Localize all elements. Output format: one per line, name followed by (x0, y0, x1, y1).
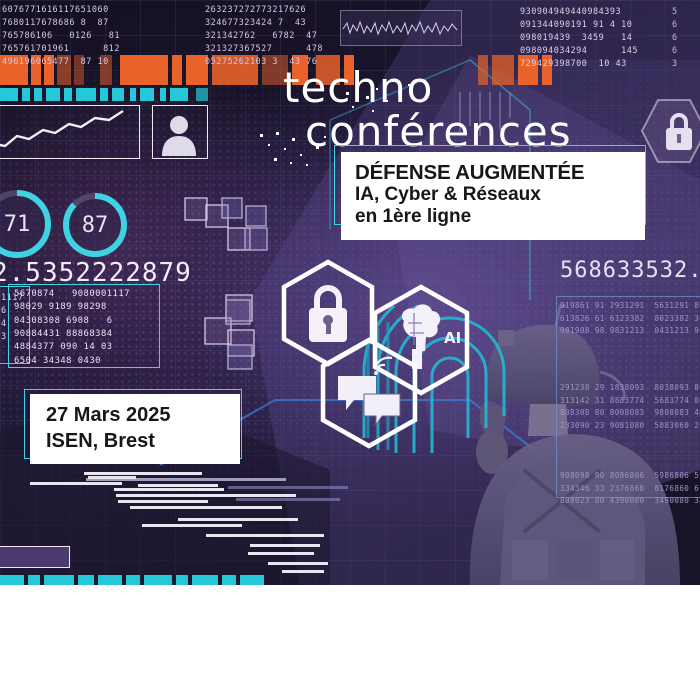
digit-block-mid-box: 5670874 9080001117 98029 9189 98298 0430… (14, 288, 130, 368)
event-card: 27 Mars 2025 ISEN, Brest (30, 394, 240, 464)
digit-block-right-1: 919861 91 2931291 5631291 863 46 613826 … (560, 300, 700, 338)
data-line-right-2 (236, 498, 340, 501)
data-line-3 (30, 482, 122, 485)
cyan-bar-bottom-h (176, 575, 188, 585)
data-line-right-1 (228, 486, 348, 489)
cyan-bar-bottom-j (222, 575, 236, 585)
cyan-bar-bottom-f (126, 575, 140, 585)
cyan-bar-bottom-g (144, 575, 172, 585)
event-date: 27 Mars 2025 (46, 402, 228, 428)
ai-label: AI (444, 329, 461, 347)
data-line-1 (84, 472, 202, 475)
cyan-bar-bottom-d (78, 575, 94, 585)
cyan-bar-bottom-c (44, 575, 74, 585)
cyan-bar-bottom-b (28, 575, 40, 585)
data-line-14 (248, 552, 314, 555)
cyan-bar-bottom-k (240, 575, 264, 585)
data-line-9 (130, 506, 282, 509)
digit-block-right-3: 908098 90 8086806 5986806 598 89 334346 … (560, 470, 700, 508)
hexagon-chat (314, 336, 424, 456)
digit-block-top-right-edge: 5 6 6 6 3 (672, 6, 678, 71)
poster-root: 71 87 (0, 0, 700, 700)
cyan-bar-bottom-a (0, 575, 24, 585)
digit-block-top-middle: 263237272773217626 324677323424 7 43 321… (205, 4, 323, 69)
digit-block-top-left: 6076771616117651060 7680117678686 8 87 7… (2, 4, 120, 69)
data-line-13 (250, 544, 320, 547)
data-line-10 (178, 518, 298, 521)
title-line-1: DÉFENSE AUGMENTÉE (355, 161, 633, 184)
digit-block-top-right: 930904949440984393 091344090191 91 4 10 … (520, 6, 638, 71)
big-number-right: 568633532. (560, 258, 700, 283)
digit-block-right-2: 291238 29 1838093 8038093 803 10 313142 … (560, 382, 700, 432)
cyan-bar-bottom-i (192, 575, 218, 585)
data-line-16 (282, 570, 324, 573)
data-line-6 (138, 484, 218, 487)
cyan-bar-bottom-e (98, 575, 122, 585)
data-line-11 (142, 524, 242, 527)
purple-value-box (0, 546, 70, 568)
data-line-5 (114, 488, 224, 491)
title-line-3: en 1ère ligne (355, 206, 633, 228)
data-line-7 (116, 494, 296, 497)
data-line-15 (268, 562, 328, 565)
data-line-8 (118, 500, 208, 503)
data-line-12 (206, 534, 324, 537)
footer-sponsors: Organisé par Avec le soutien de Images &… (0, 585, 700, 700)
hero-banner: 71 87 (0, 0, 700, 585)
data-line-4 (88, 476, 136, 479)
event-venue: ISEN, Brest (46, 428, 228, 454)
title-line-2: IA, Cyber & Réseaux (355, 184, 633, 206)
title-card: DÉFENSE AUGMENTÉE IA, Cyber & Réseaux en… (341, 152, 645, 240)
